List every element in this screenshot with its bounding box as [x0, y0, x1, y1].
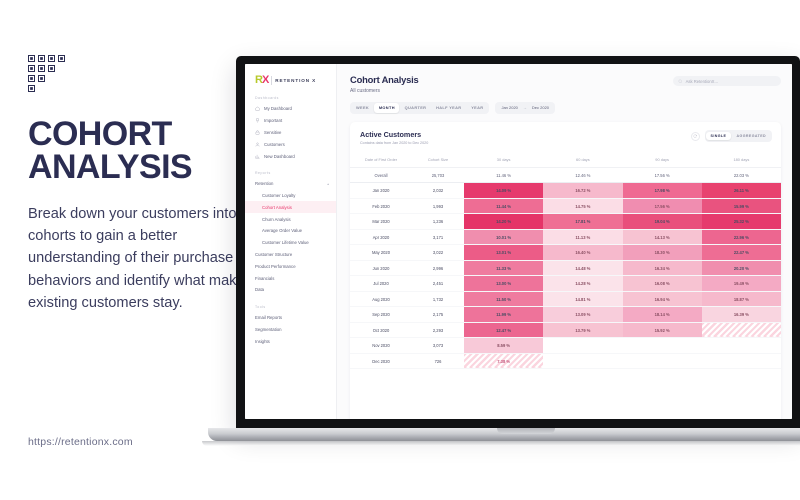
heatmap-cell: 17.81 %: [543, 214, 622, 230]
heatmap-cell: 11.50 %: [464, 291, 543, 307]
sidebar-item-customer-loyalty[interactable]: Customer Loyalty: [245, 190, 336, 202]
heatmap-cell: 17.98 %: [623, 183, 702, 199]
sidebar-item-email-reports[interactable]: Email Reports: [245, 312, 336, 324]
heatmap-cell: [623, 353, 702, 369]
cell-cohort-label: Nov 2020: [350, 338, 412, 354]
app-brand: RX RETENTION X: [245, 73, 336, 87]
pin-icon: [255, 118, 260, 123]
cell-overall-1: 12.46 %: [543, 167, 622, 183]
cell-cohort-label: Overall: [350, 167, 412, 183]
rx-logo-icon: RX: [255, 75, 268, 86]
sidebar-item-customers[interactable]: Customers: [245, 138, 336, 150]
chart-icon: [255, 154, 260, 159]
table-body: Overall25,70311.46 %12.46 %17.56 %22.03 …: [350, 167, 781, 369]
lock-icon: [255, 130, 260, 135]
brand-divider: [271, 76, 272, 85]
heatmap-cell: 19.49 %: [702, 276, 781, 292]
sidebar-item-financials[interactable]: Financials: [245, 272, 336, 284]
heatmap-cell: [543, 338, 622, 354]
table-row: Oct 20202,29312.47 %13.79 %15.92 %: [350, 322, 781, 338]
heatmap-cell: 13.01 %: [464, 245, 543, 261]
sidebar-item-label: Customer Lifetime Value: [262, 240, 309, 245]
user-icon: [255, 142, 260, 147]
heatmap-cell: 20.20 %: [702, 260, 781, 276]
table-row: Jun 20202,99611.33 %14.48 %16.34 %20.20 …: [350, 260, 781, 276]
refresh-icon: [693, 134, 697, 138]
date-range-picker[interactable]: Jan 2020 → Dec 2020: [495, 102, 555, 114]
card-subtitle: Contains data from Jan 2020 to Dec 2020: [360, 141, 428, 145]
sidebar-item-label: Sensitive: [264, 130, 281, 135]
search-input[interactable]: Ask RetentionX...: [673, 76, 781, 86]
heatmap-cell: 14.13 %: [623, 229, 702, 245]
sidebar-item-retention[interactable]: Retention ▴: [245, 178, 336, 190]
page-subtitle: All customers: [350, 88, 419, 94]
heatmap-cell: [702, 338, 781, 354]
sidebar-item-label: Cohort Analysis: [262, 205, 292, 210]
sidebar-item-average-order-value[interactable]: Average Order Value: [245, 225, 336, 237]
heatmap-cell: 11.13 %: [543, 229, 622, 245]
table-row: May 20203,02213.01 %16.40 %18.30 %22.47 …: [350, 245, 781, 261]
sidebar-item-churn-analysis[interactable]: Churn Analysis: [245, 213, 336, 225]
view-toggle: SINGLE AGGREGATED: [705, 130, 772, 141]
page-title: Cohort Analysis: [350, 74, 419, 85]
promo-image: COHORT ANALYSIS Break down your customer…: [0, 0, 800, 500]
heatmap-cell: 16.34 %: [623, 260, 702, 276]
sidebar-item-my-dashboard[interactable]: My Dashboard: [245, 103, 336, 115]
sidebar-item-sensitive[interactable]: Sensitive: [245, 127, 336, 139]
laptop-notch: [497, 428, 555, 434]
table-row: Sep 20202,17511.99 %13.09 %18.14 %16.39 …: [350, 307, 781, 323]
laptop-shadow: [202, 441, 800, 446]
sidebar-item-label: Insights: [255, 339, 270, 344]
view-aggregated[interactable]: AGGREGATED: [732, 132, 771, 141]
heatmap-cell: 25.32 %: [702, 214, 781, 230]
page-header: Cohort Analysis All customers Ask Retent…: [337, 74, 792, 94]
heatmap-cell: 16.94 %: [623, 291, 702, 307]
heatmap-cell: 18.14 %: [623, 307, 702, 323]
table-row-overall: Overall25,70311.46 %12.46 %17.56 %22.03 …: [350, 167, 781, 183]
sidebar-item-insights[interactable]: Insights: [245, 335, 336, 347]
col-cohort-size[interactable]: Cohort Size: [412, 152, 464, 167]
heatmap-cell: 18.87 %: [702, 291, 781, 307]
date-to: Dec 2020: [532, 105, 549, 110]
cell-cohort-size: 3,022: [412, 245, 464, 261]
sidebar-item-customer-lifetime-value[interactable]: Customer Lifetime Value: [245, 237, 336, 249]
period-tabs: WEEK MONTH QUARTER HALF YEAR YEAR: [350, 102, 489, 115]
sidebar-item-data[interactable]: Data: [245, 284, 336, 296]
sidebar-item-label: Segmentation: [255, 327, 282, 332]
cell-cohort-label: Mar 2020: [350, 214, 412, 230]
laptop-screen-bezel: RX RETENTION X Dashboards My Dashboard I…: [236, 56, 800, 428]
sidebar-item-label: Product Performance: [255, 264, 296, 269]
sidebar-item-important[interactable]: Important: [245, 115, 336, 127]
heatmap-cell: 14.75 %: [543, 198, 622, 214]
heatmap-cell: 7.38 %: [464, 353, 543, 369]
heatmap-cell: 14.20 %: [464, 214, 543, 230]
sidebar-item-label: Customer Loyalty: [262, 193, 295, 198]
table-row: Nov 20203,0738.59 %: [350, 338, 781, 354]
heatmap-cell: 26.11 %: [702, 183, 781, 199]
sidebar-item-label: Important: [264, 118, 282, 123]
date-from: Jan 2020: [501, 105, 517, 110]
table-header-row: Date of First Order Cohort Size 30 days …: [350, 152, 781, 167]
tab-year[interactable]: YEAR: [467, 103, 488, 113]
search-icon: [678, 79, 683, 84]
chevron-up-icon: ▴: [327, 182, 329, 186]
view-single[interactable]: SINGLE: [706, 132, 731, 141]
cell-cohort-label: Apr 2020: [350, 229, 412, 245]
sidebar-item-segmentation[interactable]: Segmentation: [245, 324, 336, 336]
cell-cohort-size: 726: [412, 353, 464, 369]
heatmap-cell: 14.09 %: [464, 183, 543, 199]
sidebar-group-tools: Tools: [245, 296, 336, 312]
heatmap-cell: 16.08 %: [623, 276, 702, 292]
cohort-table: Date of First Order Cohort Size 30 days …: [350, 152, 781, 369]
home-icon: [255, 106, 260, 111]
table-row: Aug 20201,73211.50 %14.81 %16.94 %18.87 …: [350, 291, 781, 307]
heatmap-cell: 11.33 %: [464, 260, 543, 276]
cell-cohort-size: 1,732: [412, 291, 464, 307]
cohort-card: Active Customers Contains data from Jan …: [350, 122, 781, 419]
sidebar-group-dashboards: Dashboards: [245, 87, 336, 103]
cell-cohort-label: Feb 2020: [350, 198, 412, 214]
promo-description: Break down your customers into cohorts t…: [28, 203, 253, 315]
heatmap-cell: 14.81 %: [543, 291, 622, 307]
table-row: Apr 20203,17110.01 %11.13 %14.13 %22.96 …: [350, 229, 781, 245]
sidebar-item-label: My Dashboard: [264, 106, 292, 111]
laptop-screen: RX RETENTION X Dashboards My Dashboard I…: [245, 64, 792, 419]
cell-cohort-size: 3,073: [412, 338, 464, 354]
sidebar: RX RETENTION X Dashboards My Dashboard I…: [245, 64, 337, 419]
sidebar-item-label: Average Order Value: [262, 228, 302, 233]
heatmap-cell: 15.92 %: [623, 322, 702, 338]
heatmap-cell: [543, 353, 622, 369]
heatmap-cell: 11.99 %: [464, 307, 543, 323]
sidebar-item-cohort-analysis[interactable]: Cohort Analysis: [245, 201, 336, 213]
heatmap-cell: 14.28 %: [543, 276, 622, 292]
sidebar-item-new-dashboard[interactable]: New Dashboard: [245, 150, 336, 162]
sidebar-item-product-performance[interactable]: Product Performance: [245, 260, 336, 272]
table-row: Dec 20207267.38 %: [350, 353, 781, 369]
tab-week[interactable]: WEEK: [352, 103, 374, 113]
cell-cohort-size: 2,032: [412, 183, 464, 199]
cell-cohort-size: 1,236: [412, 214, 464, 230]
cell-overall-3: 22.03 %: [702, 167, 781, 183]
main-content: Cohort Analysis All customers Ask Retent…: [337, 64, 792, 419]
retentionx-app: RX RETENTION X Dashboards My Dashboard I…: [245, 64, 792, 419]
col-90-days[interactable]: 90 days: [623, 152, 702, 167]
col-date-of-first-order[interactable]: Date of First Order: [350, 152, 412, 167]
card-header: Active Customers Contains data from Jan …: [350, 122, 781, 152]
cell-cohort-size: 2,175: [412, 307, 464, 323]
heatmap-cell: 15.99 %: [702, 198, 781, 214]
heatmap-cell: 16.72 %: [543, 183, 622, 199]
cell-overall-2: 17.56 %: [623, 167, 702, 183]
table-head: Date of First Order Cohort Size 30 days …: [350, 152, 781, 167]
cell-cohort-size: 3,171: [412, 229, 464, 245]
arrow-right-icon: →: [523, 105, 527, 110]
sidebar-item-customer-structure[interactable]: Customer Structure: [245, 249, 336, 261]
retentionx-pixel-logo: [28, 55, 64, 91]
cell-cohort-label: Jul 2020: [350, 276, 412, 292]
table-row: Mar 20201,23614.20 %17.81 %19.04 %25.32 …: [350, 214, 781, 230]
heatmap-cell: 13.79 %: [543, 322, 622, 338]
brand-name: RETENTION X: [275, 78, 316, 83]
search-placeholder: Ask RetentionX...: [686, 79, 718, 84]
col-30-days[interactable]: 30 days: [464, 152, 543, 167]
table-row: Feb 20201,99311.44 %14.75 %17.56 %15.99 …: [350, 198, 781, 214]
sidebar-item-label: New Dashboard: [264, 154, 295, 159]
tab-month[interactable]: MONTH: [374, 103, 399, 113]
refresh-button[interactable]: [691, 132, 700, 141]
sidebar-item-label: Data: [255, 287, 264, 292]
laptop-mockup: RX RETENTION X Dashboards My Dashboard I…: [236, 56, 800, 448]
heatmap-cell: 19.04 %: [623, 214, 702, 230]
card-tools: SINGLE AGGREGATED: [691, 130, 772, 141]
heatmap-cell: 13.09 %: [543, 307, 622, 323]
heatmap-cell: 8.59 %: [464, 338, 543, 354]
col-60-days[interactable]: 60 days: [543, 152, 622, 167]
heatmap-cell: 11.44 %: [464, 198, 543, 214]
sidebar-item-label: Churn Analysis: [262, 217, 291, 222]
sidebar-group-reports: Reports: [245, 162, 336, 178]
cell-cohort-label: May 2020: [350, 245, 412, 261]
cell-cohort-size: 2,996: [412, 260, 464, 276]
cell-cohort-size: 25,703: [412, 167, 464, 183]
sidebar-item-label: Customers: [264, 142, 285, 147]
sidebar-item-label: Financials: [255, 276, 274, 281]
heatmap-cell: [702, 353, 781, 369]
heatmap-cell: 18.30 %: [623, 245, 702, 261]
cell-cohort-label: Aug 2020: [350, 291, 412, 307]
heatmap-cell: [702, 322, 781, 338]
heatmap-cell: [623, 338, 702, 354]
heatmap-cell: 12.47 %: [464, 322, 543, 338]
tab-half-year[interactable]: HALF YEAR: [432, 103, 466, 113]
cell-cohort-size: 2,451: [412, 276, 464, 292]
cell-cohort-size: 1,993: [412, 198, 464, 214]
promo-url: https://retentionx.com: [28, 436, 133, 448]
cell-cohort-label: Jan 2020: [350, 183, 412, 199]
cell-cohort-size: 2,293: [412, 322, 464, 338]
heatmap-cell: 17.56 %: [623, 198, 702, 214]
heatmap-cell: 14.48 %: [543, 260, 622, 276]
cell-cohort-label: Dec 2020: [350, 353, 412, 369]
col-180-days[interactable]: 180 days: [702, 152, 781, 167]
heatmap-cell: 10.01 %: [464, 229, 543, 245]
tab-quarter[interactable]: QUARTER: [400, 103, 430, 113]
cell-cohort-label: Jun 2020: [350, 260, 412, 276]
cell-cohort-label: Oct 2020: [350, 322, 412, 338]
sidebar-item-label: Customer Structure: [255, 252, 292, 257]
heatmap-cell: 13.00 %: [464, 276, 543, 292]
table-row: Jul 20202,45113.00 %14.28 %16.08 %19.49 …: [350, 276, 781, 292]
sidebar-item-label: Retention: [255, 181, 273, 186]
heatmap-cell: 22.96 %: [702, 229, 781, 245]
heatmap-cell: 22.47 %: [702, 245, 781, 261]
cell-cohort-label: Sep 2020: [350, 307, 412, 323]
card-title: Active Customers: [360, 130, 428, 139]
heatmap-cell: 16.40 %: [543, 245, 622, 261]
heatmap-cell: 16.39 %: [702, 307, 781, 323]
cell-overall-0: 11.46 %: [464, 167, 543, 183]
sidebar-item-label: Email Reports: [255, 315, 282, 320]
table-row: Jan 20202,03214.09 %16.72 %17.98 %26.11 …: [350, 183, 781, 199]
filter-bar: WEEK MONTH QUARTER HALF YEAR YEAR Jan 20…: [350, 102, 781, 115]
